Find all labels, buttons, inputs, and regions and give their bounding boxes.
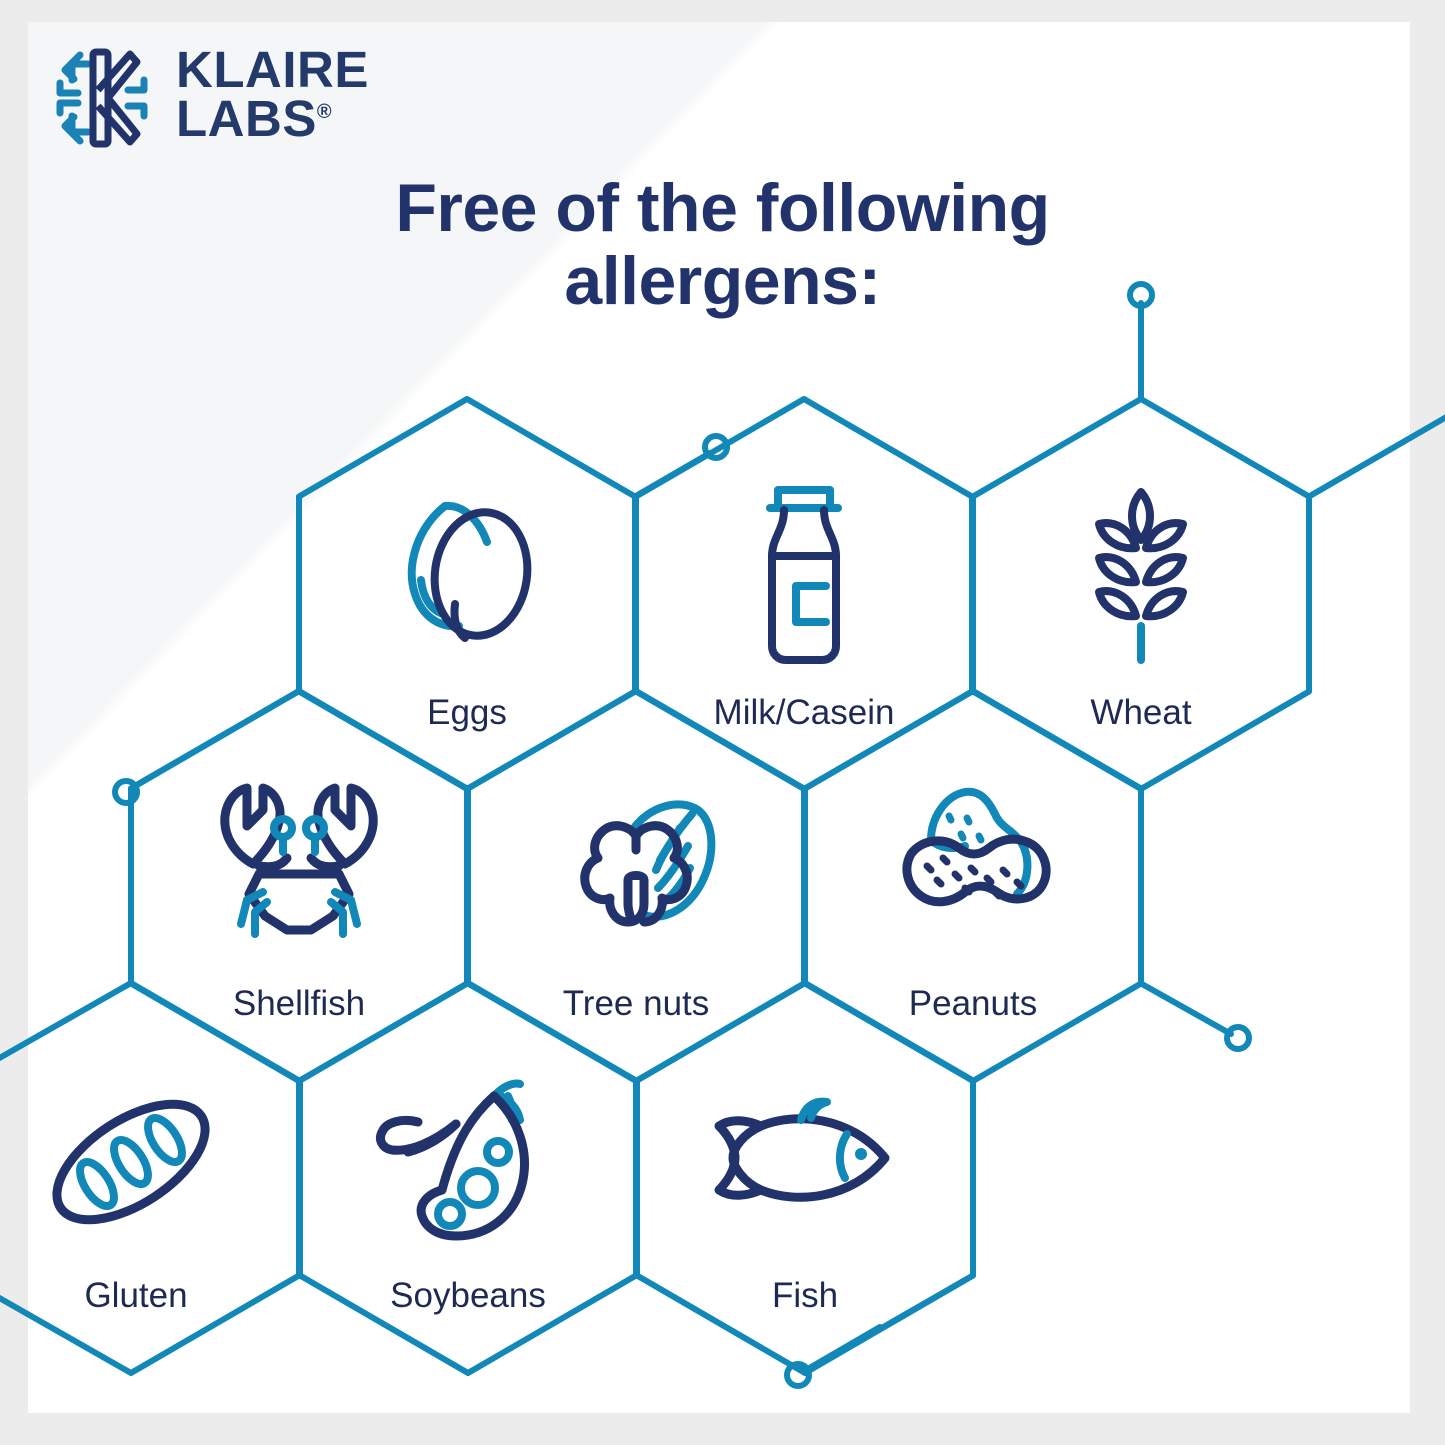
connector-line-wheat-right bbox=[1309, 412, 1445, 497]
label-fish: Fish bbox=[772, 1276, 838, 1316]
connector-line-below-fish bbox=[806, 1327, 880, 1370]
poster: KLAIRE LABS® Free of the following aller… bbox=[0, 0, 1445, 1445]
walnut-icon bbox=[585, 804, 712, 922]
milk-bottle-icon bbox=[770, 490, 838, 660]
label-milk-casein: Milk/Casein bbox=[714, 693, 895, 733]
soy-pod-icon bbox=[380, 1083, 524, 1236]
label-eggs: Eggs bbox=[427, 693, 507, 733]
fish-icon bbox=[719, 1102, 885, 1198]
label-shellfish: Shellfish bbox=[233, 984, 365, 1024]
connector-line-eggs-top-right bbox=[635, 453, 710, 497]
wheat-icon bbox=[1099, 492, 1183, 660]
connector-line-to-left-node bbox=[133, 691, 299, 787]
label-wheat: Wheat bbox=[1090, 693, 1191, 733]
label-peanuts: Peanuts bbox=[909, 984, 1037, 1024]
peanut-icon bbox=[907, 792, 1046, 902]
label-tree-nuts: Tree nuts bbox=[563, 984, 710, 1024]
label-soybeans: Soybeans bbox=[390, 1276, 546, 1316]
connector-node-right-peanuts[interactable] bbox=[1227, 1027, 1249, 1049]
crab-icon bbox=[225, 788, 373, 934]
label-gluten: Gluten bbox=[84, 1276, 187, 1316]
eggs-icon bbox=[412, 506, 535, 642]
bread-loaf-icon bbox=[38, 1081, 225, 1243]
connector-line-peanuts-right bbox=[1141, 984, 1231, 1035]
